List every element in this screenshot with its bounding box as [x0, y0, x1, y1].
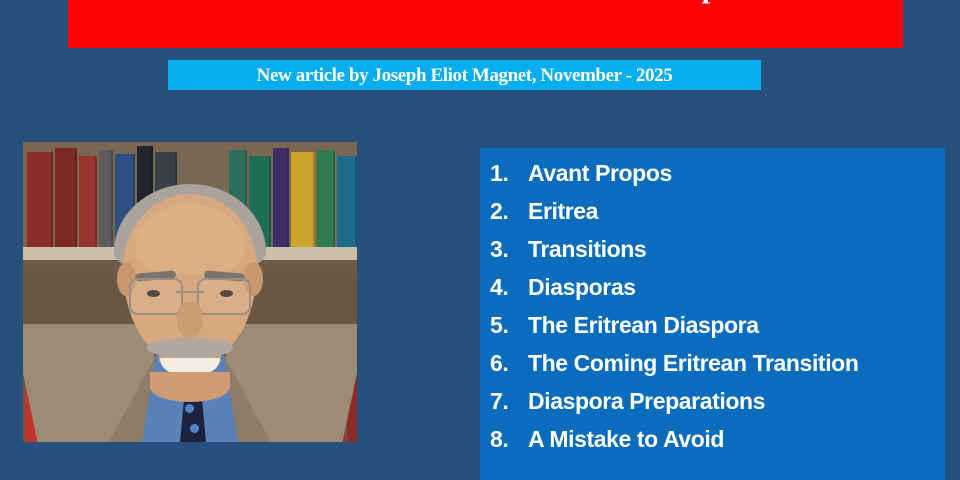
list-item[interactable]: 6. The Coming Eritrean Transition [480, 350, 945, 388]
eyeglasses-lens-right [197, 278, 251, 315]
eyeglasses-lens-left [129, 278, 183, 315]
necktie-pattern-dot [185, 404, 194, 413]
list-item-number: 5. [480, 312, 528, 339]
subtitle-text: New article by Joseph Eliot Magnet, Nove… [168, 64, 761, 87]
subtitle-banner: New article by Joseph Eliot Magnet, Nove… [168, 60, 761, 90]
list-item-label: The Eritrean Diaspora [528, 312, 759, 339]
list-item-label: Diasporas [528, 274, 636, 301]
list-item[interactable]: 8. A Mistake to Avoid [480, 426, 945, 464]
page-title: Eritrea in Transition: Role of the Diasp… [68, 0, 903, 4]
list-item-number: 4. [480, 274, 528, 301]
portrait-figure [23, 142, 357, 442]
list-item-number: 8. [480, 426, 528, 453]
title-banner: Eritrea in Transition: Role of the Diasp… [68, 0, 903, 48]
necktie-pattern-dot [190, 424, 199, 433]
list-item-number: 2. [480, 198, 528, 225]
contents-panel: 1. Avant Propos 2. Eritrea 3. Transition… [480, 148, 945, 480]
contents-list: 1. Avant Propos 2. Eritrea 3. Transition… [480, 160, 945, 464]
list-item-number: 1. [480, 160, 528, 187]
list-item[interactable]: 2. Eritrea [480, 198, 945, 236]
list-item[interactable]: 1. Avant Propos [480, 160, 945, 198]
author-portrait-photo [23, 142, 357, 442]
list-item[interactable]: 4. Diasporas [480, 274, 945, 312]
list-item-label: Transitions [528, 236, 646, 263]
list-item-number: 7. [480, 388, 528, 415]
list-item[interactable]: 5. The Eritrean Diaspora [480, 312, 945, 350]
list-item-number: 6. [480, 350, 528, 377]
chin [150, 372, 230, 402]
nose [177, 302, 203, 338]
list-item-label: Eritrea [528, 198, 598, 225]
moustache [147, 338, 233, 358]
list-item[interactable]: 3. Transitions [480, 236, 945, 274]
mouth [160, 358, 220, 373]
eyeglasses-bridge [176, 291, 204, 293]
list-item-label: Diaspora Preparations [528, 388, 765, 415]
list-item-label: A Mistake to Avoid [528, 426, 724, 453]
list-item-label: Avant Propos [528, 160, 672, 187]
list-item-number: 3. [480, 236, 528, 263]
list-item[interactable]: 7. Diaspora Preparations [480, 388, 945, 426]
slide-canvas: Eritrea in Transition: Role of the Diasp… [0, 0, 960, 480]
list-item-label: The Coming Eritrean Transition [528, 350, 859, 377]
